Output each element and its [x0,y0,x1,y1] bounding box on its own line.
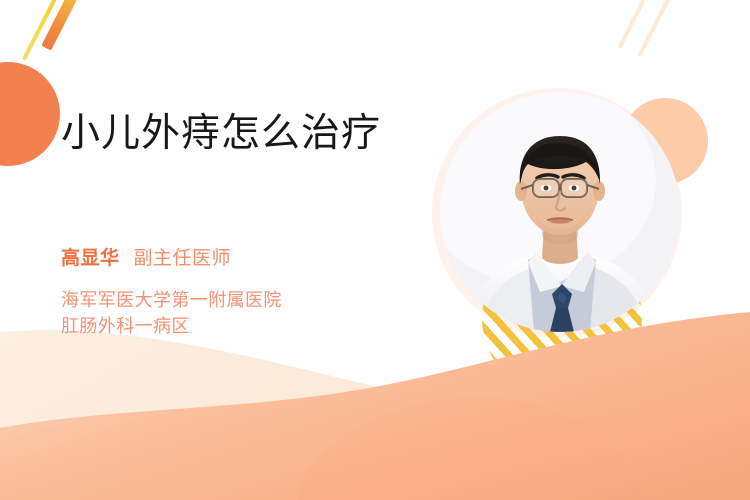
yellow-stripe-decor [22,0,60,61]
cream-stripe-decor [637,0,674,57]
doctor-name: 高显华 [61,248,120,269]
page-title: 小儿外痔怎么治疗 [61,113,381,156]
department-name: 肛肠外科一病区 [61,314,282,340]
doctor-portrait [440,92,680,332]
doctor-info-card: 小儿外痔怎么治疗 高显华副主任医师 海军军医大学第一附属医院 肛肠外科一病区 [0,0,750,500]
cream-stripe-decor [448,379,465,411]
cream-stripe-decor [144,359,166,399]
hospital-name: 海军军医大学第一附属医院 [61,288,282,314]
doctor-affiliation: 海军军医大学第一附属医院 肛肠外科一病区 [61,288,282,339]
orange-stripe-decor [41,0,83,51]
cream-stripe-decor [617,0,654,49]
doctor-byline: 高显华副主任医师 [61,249,231,268]
orange-circle-decor [0,62,60,166]
doctor-title: 副主任医师 [134,248,232,269]
